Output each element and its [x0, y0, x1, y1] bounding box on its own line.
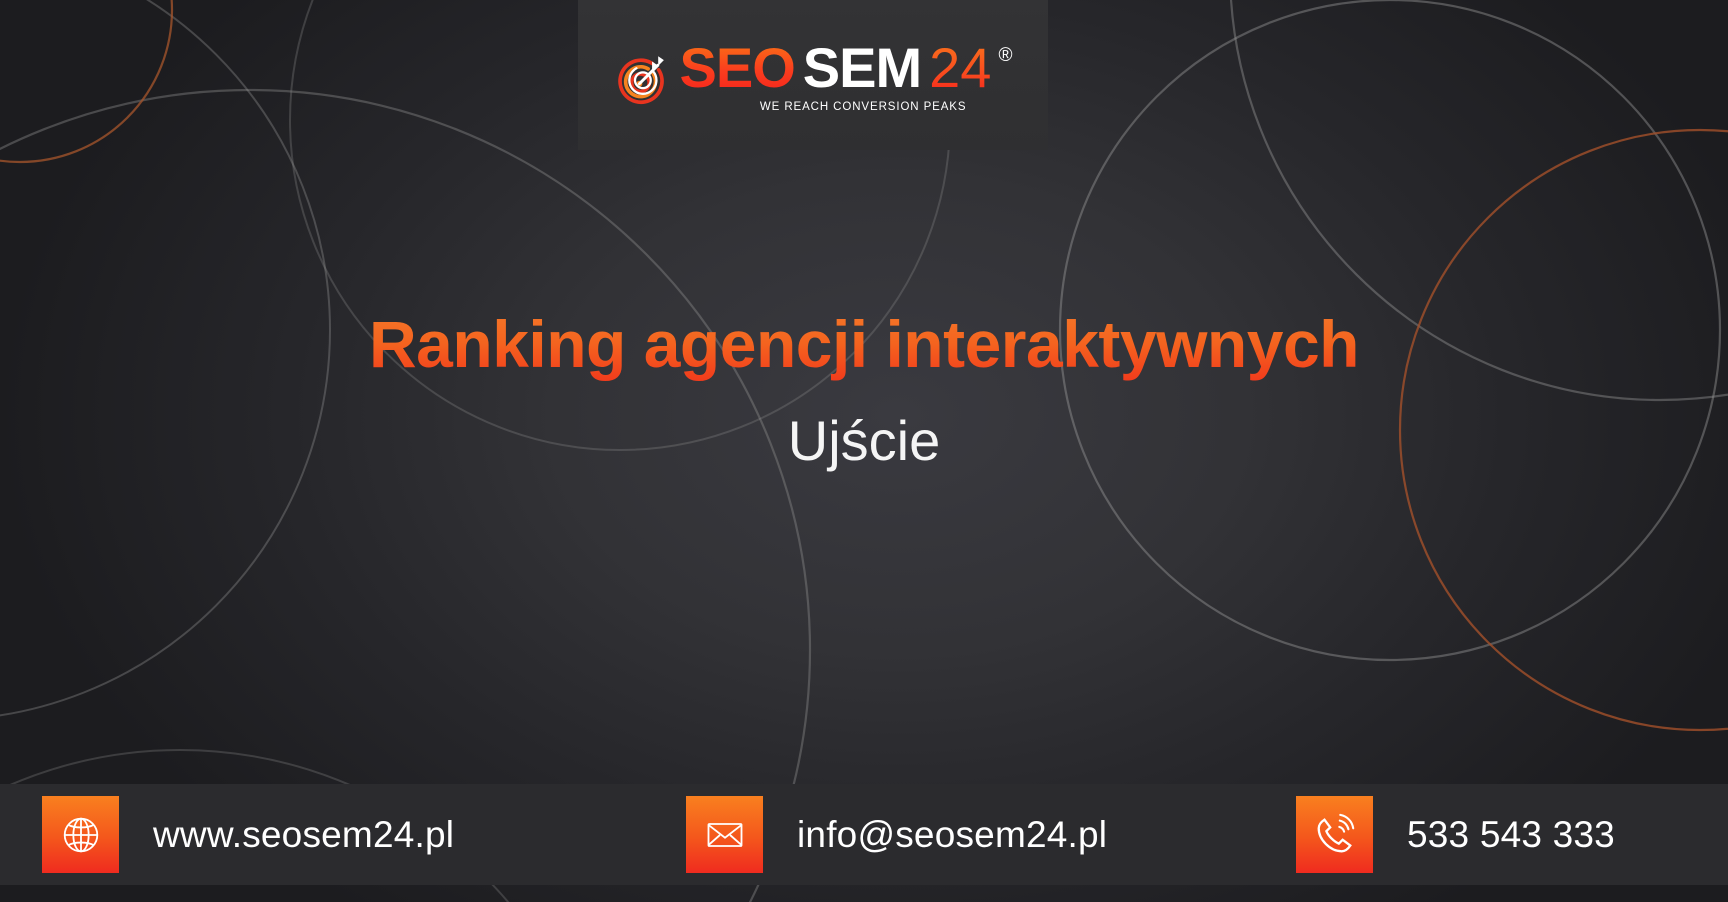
contact-phone[interactable]: 533 543 333 [1296, 796, 1615, 873]
logo-word-seo: SEO [680, 40, 795, 96]
phone-label: 533 543 333 [1407, 814, 1615, 856]
contact-website[interactable]: www.seosem24.pl [42, 796, 454, 873]
logo-word-24: 24 [929, 40, 991, 96]
envelope-icon [686, 796, 763, 873]
page-subtitle: Ujście [0, 408, 1728, 473]
contact-footer-bar: www.seosem24.pl info@seosem24.pl [0, 784, 1728, 885]
email-label: info@seosem24.pl [797, 814, 1107, 856]
decor-circle-orange-topleft [0, 0, 172, 162]
logo-word-sem: SEM [803, 40, 921, 96]
contact-email[interactable]: info@seosem24.pl [686, 796, 1107, 873]
globe-icon [42, 796, 119, 873]
page-title: Ranking agencji interaktywnych [0, 306, 1728, 382]
registered-mark-icon: ® [998, 46, 1012, 65]
slide-canvas: SEO SEM 24 ® WE REACH CONVERSION PEAKS R… [0, 0, 1728, 902]
brand-logo: SEO SEM 24 ® WE REACH CONVERSION PEAKS [578, 0, 1048, 150]
decor-circle-gray-left [0, 90, 810, 902]
logo-tagline: WE REACH CONVERSION PEAKS [680, 102, 1013, 114]
target-dart-icon [614, 54, 670, 110]
phone-icon [1296, 796, 1373, 873]
website-label: www.seosem24.pl [153, 814, 454, 856]
